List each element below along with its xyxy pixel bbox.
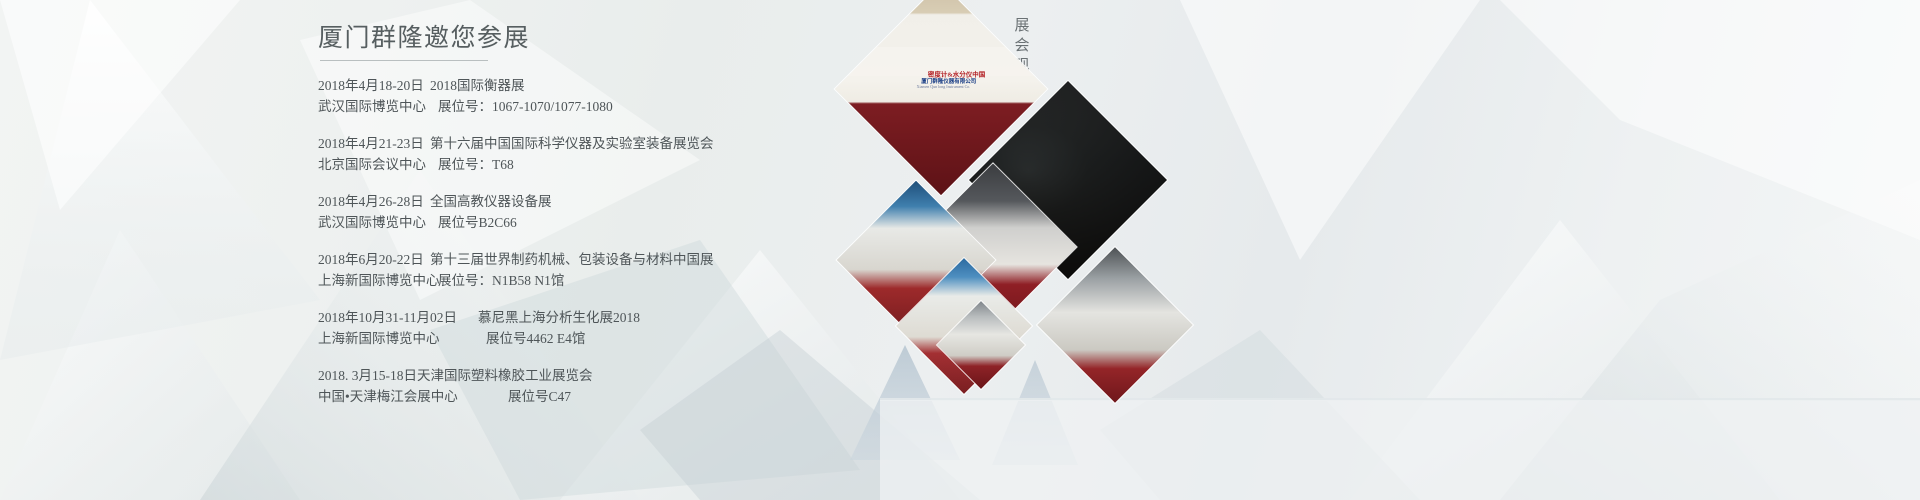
entry-venue: 上海新国际博览中心 bbox=[318, 328, 478, 349]
entry-name: 第十六届中国国际科学仪器及实验室装备展览会 bbox=[430, 133, 714, 154]
entry-name: 2018国际衡器展 bbox=[430, 75, 525, 96]
entry-date: 2018. 3月15-18日天津国际塑料橡胶工业展览会 bbox=[318, 365, 593, 386]
exhibition-entry: 2018年10月31-11月02日 慕尼黑上海分析生化展2018 上海新国际博览… bbox=[318, 307, 788, 349]
entry-name: 慕尼黑上海分析生化展2018 bbox=[478, 307, 640, 328]
exhibition-text-block: 厦门群隆邀您参展 2018年4月18-20日 2018国际衡器展 武汉国际博览中… bbox=[318, 22, 788, 423]
entry-line-primary: 2018年10月31-11月02日 慕尼黑上海分析生化展2018 bbox=[318, 307, 788, 328]
banner-canvas: 厦门群隆邀您参展 2018年4月18-20日 2018国际衡器展 武汉国际博览中… bbox=[0, 0, 1920, 500]
entry-venue: 武汉国际博览中心 bbox=[318, 212, 430, 233]
exhibition-entry: 2018年4月26-28日 全国高教仪器设备展 武汉国际博览中心 展位号B2C6… bbox=[318, 191, 788, 233]
entry-venue: 上海新国际博览中心 bbox=[318, 270, 430, 291]
exhibition-entry: 2018. 3月15-18日天津国际塑料橡胶工业展览会 中国•天津梅江会展中心 … bbox=[318, 365, 788, 407]
entry-booth: 展位号B2C66 bbox=[430, 212, 517, 233]
booth-company-name-en: Xiamen Qun long Instrument Co. bbox=[868, 84, 1018, 89]
entry-venue: 武汉国际博览中心 bbox=[318, 96, 430, 117]
exhibition-entry: 2018年4月18-20日 2018国际衡器展 武汉国际博览中心 展位号：106… bbox=[318, 75, 788, 117]
entry-line-secondary: 中国•天津梅江会展中心 展位号C47 bbox=[318, 386, 788, 407]
entry-booth: 展位号C47 bbox=[508, 386, 571, 407]
entry-date: 2018年4月18-20日 bbox=[318, 75, 430, 96]
exhibition-entry: 2018年4月21-23日 第十六届中国国际科学仪器及实验室装备展览会 北京国际… bbox=[318, 133, 788, 175]
exhibition-entry: 2018年6月20-22日 第十三届世界制药机械、包装设备与材料中国展 上海新国… bbox=[318, 249, 788, 291]
entry-line-primary: 2018年4月21-23日 第十六届中国国际科学仪器及实验室装备展览会 bbox=[318, 133, 788, 154]
entry-line-primary: 2018年6月20-22日 第十三届世界制药机械、包装设备与材料中国展 bbox=[318, 249, 788, 270]
entry-line-secondary: 北京国际会议中心 展位号：T68 bbox=[318, 154, 788, 175]
entry-date: 2018年10月31-11月02日 bbox=[318, 307, 478, 328]
entry-name: 全国高教仪器设备展 bbox=[430, 191, 552, 212]
entry-line-primary: 2018年4月18-20日 2018国际衡器展 bbox=[318, 75, 788, 96]
page-title: 厦门群隆邀您参展 bbox=[318, 22, 788, 56]
entry-line-secondary: 上海新国际博览中心 展位号：N1B58 N1馆 bbox=[318, 270, 788, 291]
entry-line-primary: 2018年4月26-28日 全国高教仪器设备展 bbox=[318, 191, 788, 212]
photo-collage: 密度计&水分仪中国 厦门群隆仪器有限公司 Xiamen Qun long Ins… bbox=[838, 0, 1198, 412]
entry-line-primary: 2018. 3月15-18日天津国际塑料橡胶工业展览会 bbox=[318, 365, 788, 386]
entry-booth: 展位号：1067-1070/1077-1080 bbox=[430, 96, 613, 117]
entry-date: 2018年6月20-22日 bbox=[318, 249, 430, 270]
entry-date: 2018年4月26-28日 bbox=[318, 191, 430, 212]
title-underline bbox=[320, 60, 488, 61]
entry-line-secondary: 武汉国际博览中心 展位号B2C66 bbox=[318, 212, 788, 233]
entry-booth: 展位号：T68 bbox=[430, 154, 514, 175]
entry-booth: 展位号：N1B58 N1馆 bbox=[430, 270, 564, 291]
entry-booth: 展位号4462 E4馆 bbox=[478, 328, 585, 349]
entry-name: 第十三届世界制药机械、包装设备与材料中国展 bbox=[430, 249, 714, 270]
entry-line-secondary: 武汉国际博览中心 展位号：1067-1070/1077-1080 bbox=[318, 96, 788, 117]
entry-venue: 中国•天津梅江会展中心 bbox=[318, 386, 508, 407]
entry-venue: 北京国际会议中心 bbox=[318, 154, 430, 175]
entry-line-secondary: 上海新国际博览中心 展位号4462 E4馆 bbox=[318, 328, 788, 349]
entry-date: 2018年4月21-23日 bbox=[318, 133, 430, 154]
